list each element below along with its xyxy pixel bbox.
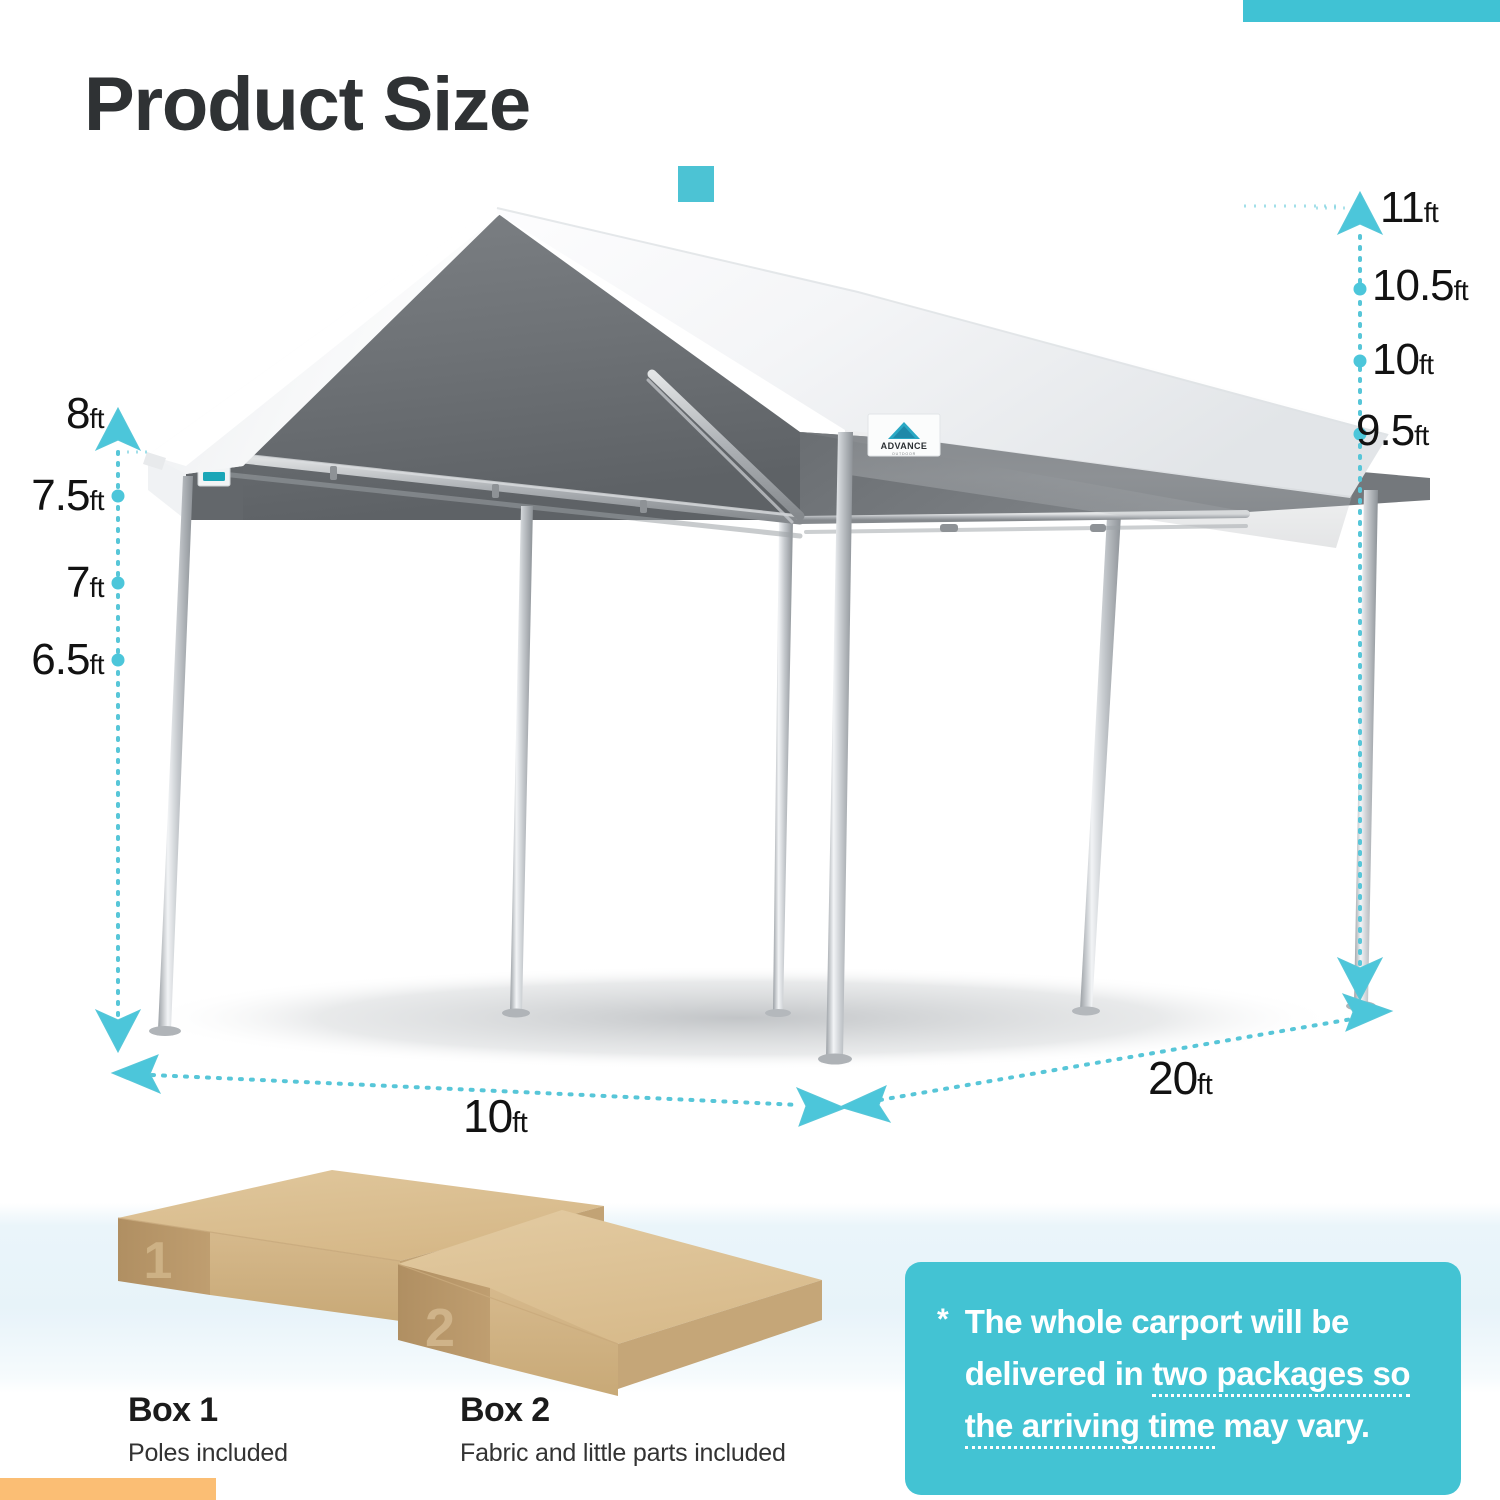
dim-label-6-5ft: 6.5ft <box>31 638 104 682</box>
dim-line-length-20ft <box>880 1019 1352 1100</box>
product-size-infographic: Product Size <box>0 0 1500 1500</box>
dim-dot-left-6_5 <box>112 654 125 667</box>
dim-label-10-5ft: 10.5ft <box>1372 264 1468 308</box>
dim-dot-left-7 <box>112 577 125 590</box>
canopy-underside-front <box>243 213 800 520</box>
title-accent-square <box>678 166 714 202</box>
package-label-2: Box 2 Fabric and little parts included <box>460 1390 786 1470</box>
dim-label-11ft: 11ft <box>1380 186 1438 230</box>
dim-arrow-10ft-right <box>797 1088 845 1126</box>
delivery-note-panel: * The whole carport will be delivered in… <box>905 1262 1461 1495</box>
canopy-roof-right-slope <box>497 205 1390 498</box>
dim-label-width-10ft: 10ft <box>463 1093 527 1139</box>
note-line-3b: may vary. <box>1215 1407 1370 1444</box>
dim-dot-right-10_5 <box>1354 283 1367 296</box>
carport-illustration: ADVANCE OUTDOOR <box>0 0 1500 1160</box>
svg-text:ADVANCE: ADVANCE <box>881 441 928 451</box>
dim-label-9-5ft: 9.5ft <box>1356 409 1429 453</box>
top-right-accent-bar <box>1243 0 1500 22</box>
dim-arrow-left-bottom <box>96 1010 140 1052</box>
note-line-1: The whole carport will be <box>965 1303 1349 1340</box>
package-boxes-illustration: 1 2 <box>110 1168 850 1398</box>
page-title: Product Size <box>84 62 530 148</box>
dim-arrow-10ft-left <box>112 1055 160 1093</box>
canopy-underside-right <box>800 432 1248 520</box>
brand-label-inner <box>198 446 230 486</box>
note-line-2a: delivered in <box>965 1355 1152 1392</box>
dim-label-length-20ft: 20ft <box>1148 1055 1212 1101</box>
dim-dot-right-10 <box>1354 355 1367 368</box>
canopy-underside-left-edge <box>186 466 243 520</box>
dimension-lines <box>96 192 1392 1126</box>
package-box-1-number: 1 <box>144 1232 173 1290</box>
dim-label-8ft: 8ft <box>66 392 104 436</box>
dim-arrow-20ft-right <box>1343 994 1392 1031</box>
package-label-1: Box 1 Poles included <box>128 1390 288 1470</box>
note-line-2b: two packages so <box>1152 1355 1410 1397</box>
bottom-left-accent-bar <box>0 1478 216 1500</box>
dim-arrow-right-top <box>1338 192 1382 234</box>
dim-dot-left-7_5 <box>112 490 125 503</box>
canopy-roof-left-slope <box>148 205 500 486</box>
svg-text:OUTDOOR: OUTDOOR <box>892 452 916 456</box>
dim-arrow-20ft-left <box>840 1086 890 1122</box>
brand-label-patch: ADVANCE OUTDOOR <box>868 414 940 456</box>
package-2-title: Box 2 <box>460 1390 786 1430</box>
note-line-3a: the arriving time <box>965 1407 1215 1449</box>
eave-tensioner <box>143 452 166 470</box>
note-text: The whole carport will be delivered in t… <box>965 1296 1410 1452</box>
dim-arrow-right-bottom <box>1338 958 1382 1000</box>
canopy-fascia-left <box>148 455 186 520</box>
package-1-title: Box 1 <box>128 1390 288 1430</box>
page-title-text: Product Size <box>84 62 530 148</box>
dim-label-10ft: 10ft <box>1372 338 1434 382</box>
package-box-2-number: 2 <box>425 1298 455 1358</box>
package-2-subtitle: Fabric and little parts included <box>460 1436 786 1470</box>
note-bullet-asterisk: * <box>937 1296 949 1344</box>
canopy-underside-right-far <box>800 432 1430 512</box>
canopy-frame-bars <box>216 374 1246 536</box>
carport-front-legs <box>149 432 1378 1065</box>
carport-rear-legs <box>765 498 1122 1017</box>
dim-label-7ft: 7ft <box>66 561 104 605</box>
dim-label-7-5ft: 7.5ft <box>31 474 104 518</box>
canopy-ridge <box>497 205 1390 432</box>
package-1-subtitle: Poles included <box>128 1436 288 1470</box>
